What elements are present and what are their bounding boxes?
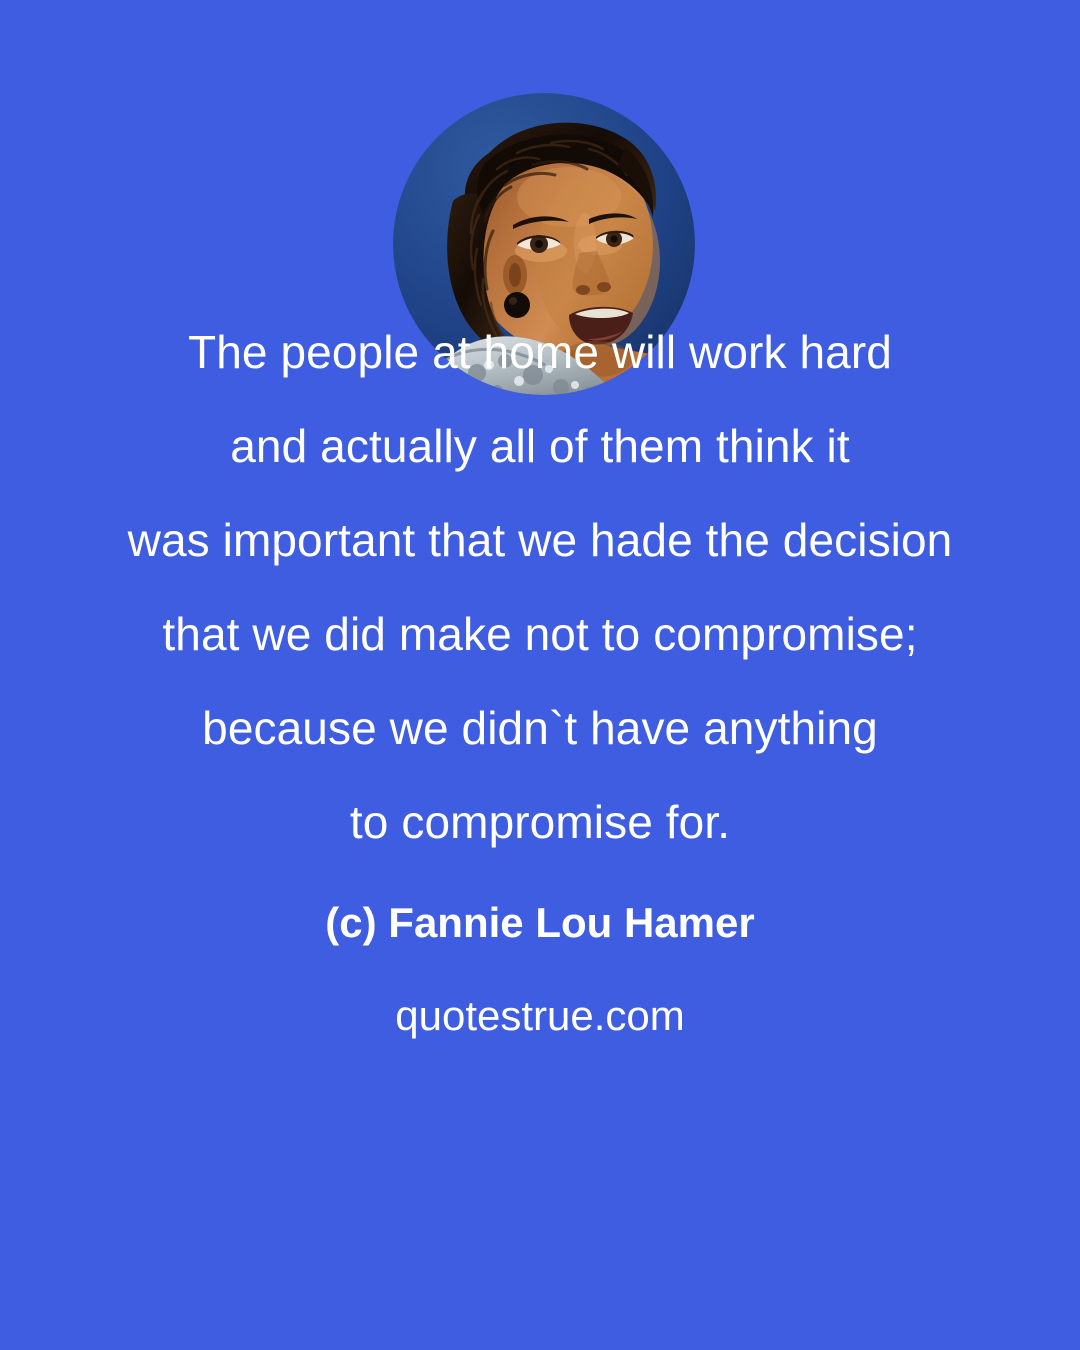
quote-line: to compromise for. (0, 775, 1080, 869)
quote-card: The people at home will work hard and ac… (0, 0, 1080, 1350)
quote-line: that we did make not to compromise; (0, 587, 1080, 681)
source-website: quotestrue.com (0, 966, 1080, 1066)
quote-line: and actually all of them think it (0, 399, 1080, 493)
quote-line: was important that we hade the decision (0, 493, 1080, 587)
quote-line: The people at home will work hard (0, 305, 1080, 399)
quote-author: (c) Fannie Lou Hamer (0, 880, 1080, 966)
quote-text: The people at home will work hard and ac… (0, 305, 1080, 869)
quote-line: because we didn`t have anything (0, 681, 1080, 775)
attribution: (c) Fannie Lou Hamer quotestrue.com (0, 880, 1080, 1066)
